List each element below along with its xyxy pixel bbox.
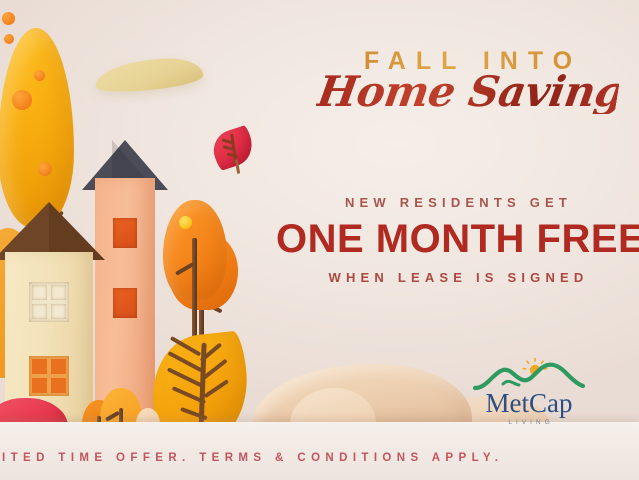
offer-posttext: WHEN LEASE IS SIGNED [270,270,639,285]
leaf-vein [227,153,238,158]
house-cream [5,198,93,430]
fruit-dot [38,162,52,176]
house-window [29,356,69,396]
mountain-wave-inner-icon [503,381,519,385]
offer-block: NEW RESIDENTS GET ONE MONTH FREE WHEN LE… [270,195,639,285]
house-window [29,282,69,322]
fruit-dot [34,70,45,81]
cloud-shape [94,55,204,94]
fruit-dot [4,34,14,44]
fruit-dot [2,12,15,25]
promotional-banner: FALL INTO Home Savings! NEW RESIDENTS GE… [0,0,639,480]
offer-pretext: NEW RESIDENTS GET [270,195,639,210]
logo-wordmark: MetCap [470,390,588,417]
ground-plane [0,422,639,480]
metcap-logo: MetCap LIVING [470,358,588,426]
red-leaf [208,125,257,172]
leaf-vein [204,379,229,398]
leaf-stem [235,160,240,174]
headline-block: FALL INTO Home Savings! [318,48,618,114]
fruit-dot [12,90,32,110]
logo-subtext: LIVING [470,419,588,426]
offer-headline: ONE MONTH FREE [270,219,639,259]
metcap-mark-icon [473,358,585,392]
fruit-dot [179,216,192,229]
house-window [113,288,137,318]
house-window [113,218,137,248]
headline-line-2: Home Savings! [315,70,622,114]
house-tall [95,140,155,430]
mountain-wave-icon [475,365,583,388]
footer-disclaimer: LIMITED TIME OFFER. TERMS & CONDITIONS A… [0,452,486,464]
